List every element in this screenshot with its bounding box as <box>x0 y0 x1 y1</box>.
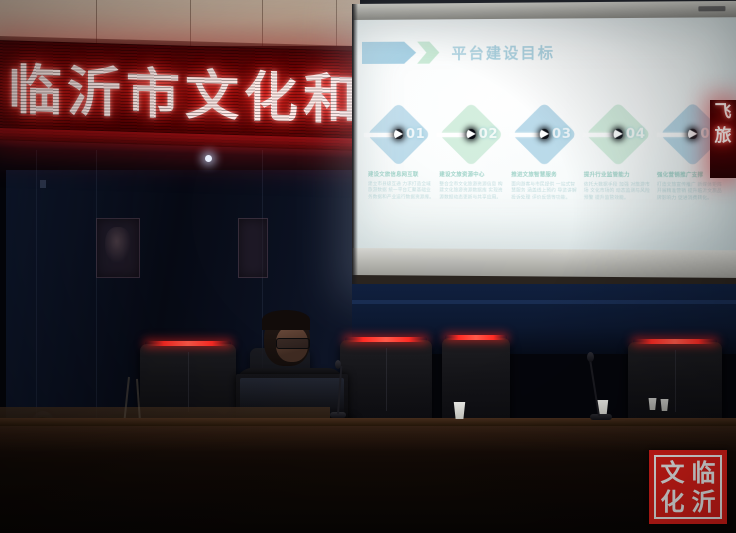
watermark-seal: 文 临 化 沂 <box>649 450 727 524</box>
poster-figure <box>105 227 132 263</box>
step-caption: 强化营销推广支撑 打造文旅宣传推广 新媒体矩阵 开展精准营销 提升临沂文旅品牌影… <box>657 172 726 244</box>
conference-table <box>0 418 736 533</box>
ceiling-seam <box>262 0 263 46</box>
microphone-head <box>335 360 341 369</box>
chair-seam <box>386 348 387 411</box>
arrow-right-icon <box>657 131 703 138</box>
chair-rim-light <box>345 337 428 342</box>
chair-rim-light <box>633 339 718 344</box>
step-heading: 建设文旅资源中心 <box>439 172 506 179</box>
speaker-glasses <box>276 338 310 349</box>
seal-char: 临 <box>688 458 719 487</box>
screen-left-shadow <box>352 4 358 284</box>
wall-fixture <box>40 180 46 188</box>
table-edge <box>0 418 736 426</box>
led-side-strip: 飞 旅 <box>710 100 736 178</box>
wall-poster <box>96 218 140 278</box>
step-body: 建立市县级互通 力求打造全域旅游数据 统一平台汇聚基础业务数据和产业运行数据资源… <box>368 182 434 201</box>
seal-char: 沂 <box>688 487 719 516</box>
arrow-right-icon <box>364 131 408 138</box>
chevron-blue-icon <box>362 42 416 64</box>
chair-seam <box>675 350 676 412</box>
slide-title: 平台建设目标 <box>451 41 555 63</box>
step-number: 02 <box>479 127 498 142</box>
step-caption: 提升行业监管能力 依托大数据手段 加强 对旅游市场 文化市场的 动态监测与风险预… <box>584 172 652 243</box>
seal-char: 文 <box>657 458 688 487</box>
seal-characters: 文 临 化 沂 <box>657 458 719 516</box>
wall-seam <box>96 150 97 450</box>
step-diamond: 03 <box>513 103 576 166</box>
speaker-hair <box>262 310 310 330</box>
step-diamond: 04 <box>587 103 651 166</box>
arrow-right-icon <box>436 131 480 138</box>
conference-hall-photo: 临沂市文化和旅 平台建设目标 01 <box>0 0 736 533</box>
step-caption: 建设文旅信息网互联 建立市县级互通 力求打造全域旅游数据 统一平台汇聚基础业务数… <box>368 172 434 242</box>
arrow-right-icon <box>509 131 554 138</box>
projector-bracket-icon <box>698 6 725 11</box>
step-diamond: 01 <box>368 104 430 166</box>
chevron-green-icon <box>417 41 439 63</box>
step-body: 面向游客与市民提供 一站式智慧服务 涵盖线上预约 导览讲解 投诉处理 评价反馈等… <box>511 182 578 202</box>
step-number: 03 <box>552 127 572 142</box>
step-body: 依托大数据手段 加强 对旅游市场 文化市场的 动态监测与风险预警 提升监管效能。 <box>584 183 652 203</box>
step-caption-columns: 建设文旅信息网互联 建立市县级互通 力求打造全域旅游数据 统一平台汇聚基础业务数… <box>368 172 732 244</box>
ceiling-seam <box>336 0 337 46</box>
step-caption: 建设文旅资源中心 整合全市文化旅游资源信息 构建文化旅游资源数据库 实现资源数据… <box>439 172 506 243</box>
step-caption: 推进文旅智慧服务 面向游客与市民提供 一站式智慧服务 涵盖线上预约 导览讲解 投… <box>511 172 578 243</box>
led-side-char: 旅 <box>710 124 736 148</box>
step-number: 01 <box>406 127 425 142</box>
microphone-base <box>590 414 612 420</box>
step-body: 整合全市文化旅游资源信息 构建文化旅游资源数据库 实现资源数据动态更新与共享应用… <box>439 182 506 202</box>
step-diamond: 02 <box>440 104 503 167</box>
table-sheen <box>0 426 736 452</box>
step-diamond-row: 01 02 03 <box>368 103 730 166</box>
step-heading: 推进文旅智慧服务 <box>511 172 578 179</box>
wall-seam <box>36 150 37 450</box>
spot-light-reflection <box>205 155 212 162</box>
ceiling-seam <box>190 0 191 46</box>
microphone-stem <box>589 359 600 417</box>
chair <box>442 338 510 430</box>
seal-char: 化 <box>657 487 688 516</box>
projection-screen: 平台建设目标 01 02 <box>352 1 736 287</box>
led-side-char: 飞 <box>710 100 736 124</box>
slide-title-row: 平台建设目标 <box>362 39 555 66</box>
arrow-right-icon <box>583 131 628 138</box>
chair <box>340 340 432 430</box>
step-heading: 建设文旅信息网互联 <box>368 172 434 179</box>
screen-surface: 平台建设目标 01 02 <box>354 17 736 250</box>
step-number: 04 <box>626 127 646 142</box>
chair <box>628 342 722 430</box>
microphone-head <box>587 352 594 362</box>
step-body: 打造文旅宣传推广 新媒体矩阵 开展精准营销 提升临沂文旅品牌影响力 促进消费转化… <box>657 183 726 203</box>
wall-poster <box>238 218 268 278</box>
step-heading: 提升行业监管能力 <box>584 172 652 179</box>
chair-rim-light <box>145 341 231 346</box>
screen-bottom-rail <box>352 248 736 279</box>
chair-rim-light <box>445 335 506 340</box>
wall-trim <box>352 300 736 304</box>
chair-seam <box>188 352 189 412</box>
